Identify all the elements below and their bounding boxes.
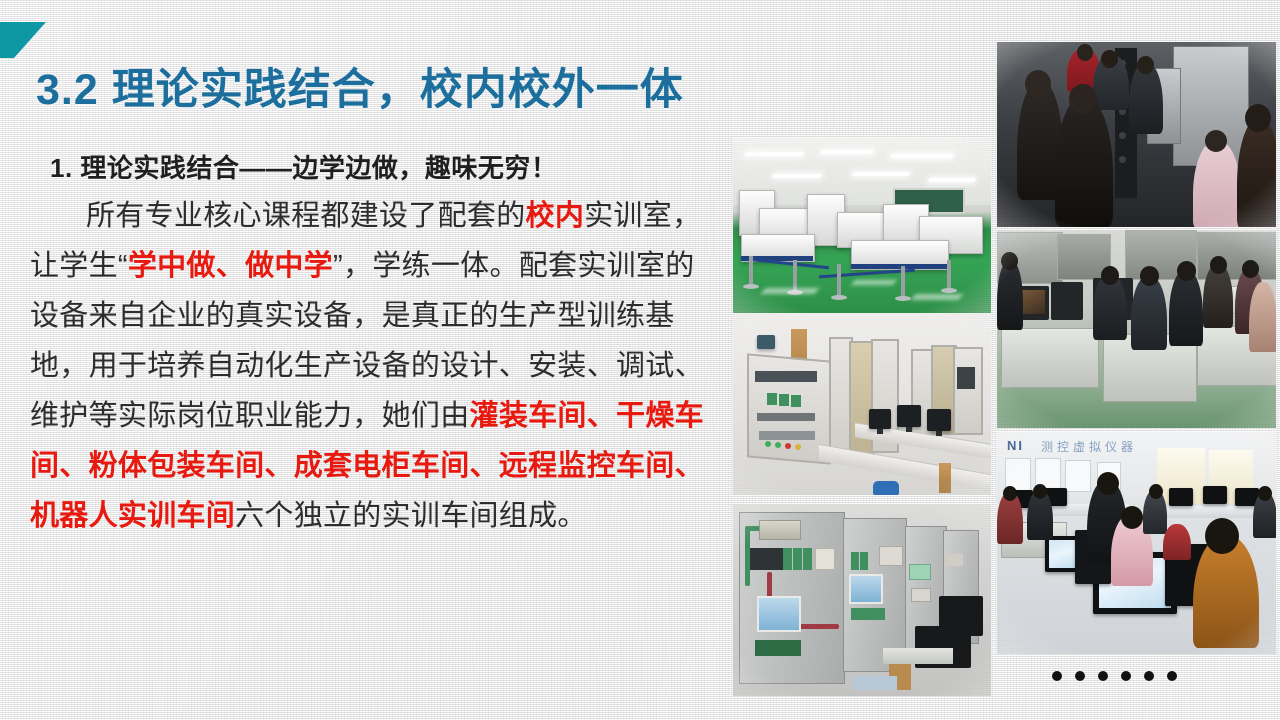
ellipsis-dot bbox=[1121, 671, 1131, 681]
stool bbox=[939, 463, 951, 493]
student-head bbox=[1149, 484, 1163, 499]
page-title: 3.2 理论实践结合，校内校外一体 bbox=[36, 55, 684, 117]
machine-stripe bbox=[851, 264, 947, 269]
gallery-photo-4[interactable] bbox=[997, 230, 1276, 428]
indicator-button bbox=[775, 442, 781, 448]
student-head bbox=[1001, 252, 1018, 270]
io-module bbox=[783, 548, 792, 570]
ni-logo-text: NI bbox=[1007, 438, 1024, 453]
indicator-button bbox=[795, 444, 801, 450]
switch-panel bbox=[911, 588, 931, 602]
io-module bbox=[851, 552, 859, 570]
student-head bbox=[1101, 50, 1118, 68]
student-head bbox=[1205, 130, 1227, 152]
indicator-panel bbox=[909, 564, 931, 580]
hmi-touch-panel bbox=[849, 574, 883, 604]
module-row bbox=[957, 367, 975, 389]
body-paragraph: 所有专业核心课程都建设了配套的校内实训室，让学生“学中做、做中学”，学练一体。配… bbox=[30, 191, 720, 541]
control-panel bbox=[953, 347, 983, 435]
gallery-photo-6[interactable]: NI 测控虚拟仪器 bbox=[997, 432, 1276, 654]
floor-object bbox=[853, 676, 897, 690]
student-head bbox=[1140, 266, 1159, 286]
lab-bench bbox=[1001, 328, 1099, 388]
plc-module bbox=[767, 393, 777, 405]
barrier-base bbox=[895, 296, 911, 301]
barrier-base bbox=[743, 284, 759, 289]
barrier-post bbox=[947, 260, 951, 290]
student-head bbox=[1033, 484, 1047, 499]
floor-reflection bbox=[852, 280, 897, 285]
photo-1-scene bbox=[733, 138, 991, 313]
gallery-photo-1[interactable] bbox=[733, 138, 991, 313]
ceiling-lamp bbox=[820, 150, 874, 154]
ceiling-lamp bbox=[852, 172, 910, 176]
student-head bbox=[1258, 486, 1272, 501]
student-head bbox=[1025, 70, 1051, 98]
gallery-photo-5[interactable] bbox=[733, 504, 991, 696]
rack-knob bbox=[1119, 156, 1126, 163]
io-module bbox=[851, 608, 885, 620]
student-head bbox=[1121, 506, 1143, 529]
ceiling-lamp bbox=[744, 152, 804, 156]
barrier-base bbox=[941, 288, 957, 293]
student-head bbox=[1242, 260, 1259, 278]
student-figure bbox=[1131, 276, 1167, 350]
indicator-button bbox=[765, 441, 771, 447]
monitor-stand bbox=[877, 429, 883, 434]
work-bench bbox=[883, 648, 953, 664]
paragraph-segment-1: 所有专业核心课程都建设了配套的 bbox=[86, 200, 526, 232]
barrier-post bbox=[837, 264, 841, 298]
student-head bbox=[1210, 256, 1227, 274]
green-cable bbox=[745, 526, 750, 586]
student-figure bbox=[1163, 524, 1191, 560]
indicator-button bbox=[785, 443, 791, 449]
student-head bbox=[1101, 266, 1119, 285]
rack-knob bbox=[1119, 132, 1126, 139]
module-row bbox=[755, 371, 817, 382]
slide-canvas: 3.2 理论实践结合，校内校外一体 1. 理论实践结合——边学边做，趣味无穷！ … bbox=[0, 0, 1280, 720]
wall-monitor bbox=[757, 335, 775, 349]
io-module bbox=[803, 548, 812, 570]
barrier-post bbox=[749, 256, 753, 286]
io-module bbox=[793, 548, 802, 570]
quote-open: “ bbox=[118, 250, 128, 282]
student-head bbox=[1205, 518, 1239, 554]
switch-panel bbox=[947, 554, 963, 566]
plc-module bbox=[791, 395, 801, 407]
terminal-block bbox=[879, 546, 903, 566]
ellipsis-dot bbox=[1144, 671, 1154, 681]
student-figure bbox=[1249, 282, 1276, 352]
student-head bbox=[1245, 104, 1271, 132]
breaker-block bbox=[759, 520, 801, 540]
floor-reflection bbox=[761, 288, 818, 294]
monitor-stand bbox=[936, 431, 942, 436]
paragraph-segment-4: 六个独立的实训车间组成。 bbox=[235, 500, 587, 532]
hmi-touch-panel bbox=[757, 596, 801, 632]
terminal-strip bbox=[755, 640, 801, 656]
gallery-photo-2[interactable] bbox=[997, 42, 1276, 227]
ceiling-lamp bbox=[772, 174, 822, 178]
io-module bbox=[860, 552, 868, 570]
banner-text: 测控虚拟仪器 bbox=[1041, 438, 1137, 455]
barrier-post bbox=[901, 266, 905, 298]
photo-6-scene: NI 测控虚拟仪器 bbox=[997, 432, 1276, 654]
crt-display bbox=[1051, 282, 1083, 320]
monitor bbox=[869, 409, 891, 429]
plc-module bbox=[779, 394, 789, 406]
ceiling-lamp bbox=[890, 154, 954, 158]
barrier-base bbox=[831, 295, 847, 300]
ellipsis-dots bbox=[1052, 671, 1177, 681]
bucket bbox=[873, 481, 899, 495]
student-figure bbox=[1055, 96, 1113, 227]
monitor bbox=[897, 405, 921, 427]
lcd-monitor bbox=[1203, 486, 1227, 504]
highlight-xiaonei: 校内 bbox=[526, 200, 585, 232]
module-row bbox=[759, 431, 815, 440]
student-head bbox=[1177, 261, 1196, 281]
floor-reflection bbox=[911, 294, 962, 300]
photo-5-scene bbox=[733, 504, 991, 696]
photo-2-scene bbox=[997, 42, 1276, 227]
lcd-monitor bbox=[1169, 488, 1193, 506]
highlight-xuezhongzuo: 学中做、做中学 bbox=[128, 250, 333, 282]
wall-poster bbox=[1065, 460, 1091, 492]
ceiling-lamp bbox=[928, 178, 976, 182]
student-head bbox=[1069, 84, 1097, 114]
teacher-head bbox=[1097, 472, 1119, 495]
monitor bbox=[927, 409, 951, 431]
lead-heading: 1. 理论实践结合——边学边做，趣味无穷！ bbox=[50, 148, 720, 185]
ellipsis-dot bbox=[1052, 671, 1062, 681]
photo-4-scene bbox=[997, 230, 1276, 428]
student-figure bbox=[997, 260, 1023, 330]
terminal-block bbox=[815, 548, 835, 570]
module-row bbox=[757, 413, 815, 421]
photo-3-scene bbox=[733, 313, 991, 495]
ellipsis-dot bbox=[1098, 671, 1108, 681]
student-figure bbox=[1169, 270, 1203, 346]
gallery-photo-3[interactable] bbox=[733, 313, 991, 495]
student-head bbox=[1137, 56, 1154, 74]
ellipsis-dot bbox=[1167, 671, 1177, 681]
student-head bbox=[1077, 44, 1093, 61]
plc-controller bbox=[749, 548, 783, 570]
body-text-block: 1. 理论实践结合——边学边做，趣味无穷！ 所有专业核心课程都建设了配套的校内实… bbox=[30, 148, 720, 541]
quote-close: ” bbox=[333, 250, 343, 282]
monitor-stand bbox=[906, 427, 912, 432]
ellipsis-dot bbox=[1075, 671, 1085, 681]
student-head bbox=[1003, 486, 1017, 501]
